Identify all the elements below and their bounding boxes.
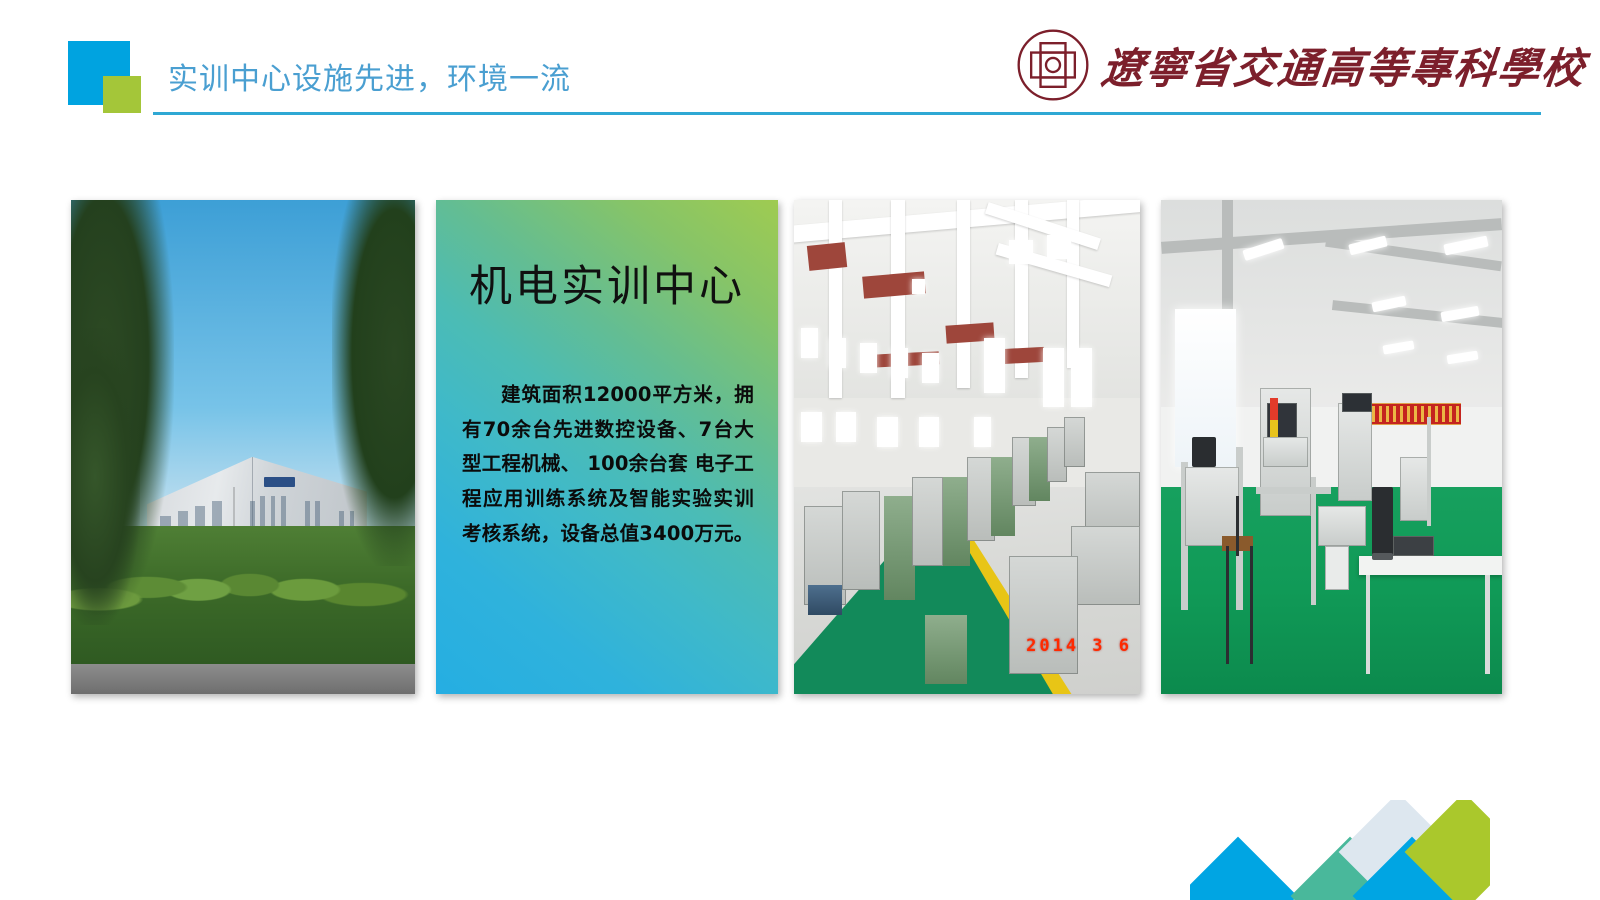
training-center-info-panel: 机电实训中心 建筑面积12000平方米，拥有70余台先进数控设备、7台大型工程机… xyxy=(436,200,778,694)
campus-building-photo xyxy=(71,200,415,694)
cnc-workshop-photo: 2014 3 6 xyxy=(794,200,1140,694)
campus-building-image xyxy=(71,200,415,694)
panel-description: 建筑面积12000平方米，拥有70余台先进数控设备、7台大型工程机械、 100余… xyxy=(462,378,754,552)
content-gallery: 机电实训中心 建筑面积12000平方米，拥有70余台先进数控设备、7台大型工程机… xyxy=(0,0,1600,900)
automation-lab-photo xyxy=(1161,200,1502,694)
building-sign xyxy=(264,477,295,487)
tree-right xyxy=(332,200,415,566)
tree-left-lower xyxy=(71,328,140,624)
panel-heading: 机电实训中心 xyxy=(436,252,778,314)
automation-lab-image xyxy=(1161,200,1502,694)
photo-date-stamp: 2014 3 6 xyxy=(1026,636,1132,656)
diamond-blue-1 xyxy=(1190,837,1297,900)
decorative-diamonds xyxy=(1190,800,1490,900)
road-strip xyxy=(71,664,415,694)
gradient-background: 机电实训中心 建筑面积12000平方米，拥有70余台先进数控设备、7台大型工程机… xyxy=(436,200,778,694)
cnc-workshop-image: 2014 3 6 xyxy=(794,200,1140,694)
